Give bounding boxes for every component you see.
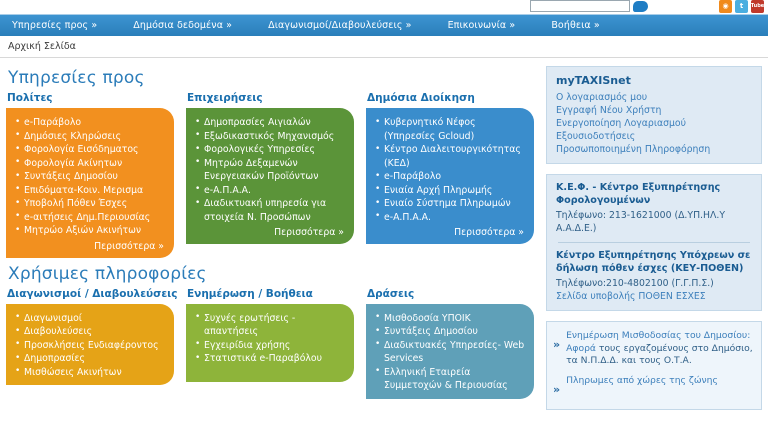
list-item[interactable]: Συντάξεις Δημοσίου	[372, 325, 526, 339]
list-item[interactable]: Επιδόματα-Κοιν. Μερισμα	[12, 184, 166, 198]
list-citizens: e-Παράβολο Δημόσιες Κληρώσεις Φορολογία …	[12, 116, 166, 238]
news-item[interactable]: » Ενημέρωση Μισθοδοσίας του Δημοσίου: Αφ…	[553, 330, 753, 368]
card-tenders: Διαγωνισμοί Διαβουλεύσεις Προσκλήσεις Εν…	[6, 304, 174, 386]
nav-item-voitheia[interactable]: Βοήθεια »	[551, 20, 618, 31]
page-title: Υπηρεσίες προς	[8, 68, 540, 88]
card-actions: Μισθοδοσία ΥΠΟΙΚ Συντάξεις Δημοσίου Διαδ…	[366, 304, 534, 399]
nav-item-epikoinonia[interactable]: Επικοινωνία »	[448, 20, 534, 31]
list-item[interactable]: Εγχειρίδια χρήσης	[192, 339, 346, 353]
list-item[interactable]: Φορολογία Εισόδηματος	[12, 143, 166, 157]
news-item[interactable]: » Πληρωμες από χώρες της ζώνης	[553, 375, 753, 396]
list-item[interactable]: Συντάξεις Δημοσίου	[12, 170, 166, 184]
kef-title: Κ.Ε.Φ. - Κέντρο Εξυπηρέτησης Φορολογουμέ…	[556, 182, 752, 207]
rss-icon[interactable]: ◉	[719, 0, 732, 13]
sidebar-item-personalized-info[interactable]: Προσωποποιημένη Πληροφόρηση	[556, 143, 752, 156]
keypothen-phone: Τηλέφωνο:210-4802100 (Γ.Γ.Π.Σ.)	[556, 277, 752, 290]
card-heading-actions: Δράσεις	[367, 288, 534, 300]
main-content: Υπηρεσίες προς Πολίτες e-Παράβολο Δημόσι…	[0, 66, 540, 432]
breadcrumb-home[interactable]: Αρχική Σελίδα	[8, 41, 76, 52]
list-item[interactable]: Μισθοδοσία ΥΠΟΙΚ	[372, 312, 526, 326]
list-item[interactable]: Ελληνική Εταιρεία Συμμετοχών & Περιουσία…	[372, 366, 526, 393]
list-item[interactable]: Διαγωνισμοί	[12, 312, 166, 326]
double-chevron-right-icon: »	[553, 330, 560, 351]
more-link-public-admin[interactable]: Περισσότερα »	[372, 227, 526, 238]
list-item[interactable]: Διαδικτυακή υπηρεσία για στοιχεία Ν. Προ…	[192, 197, 346, 224]
nav-item-diagonismoi[interactable]: Διαγωνισμοί/Διαβουλεύσεις »	[268, 20, 429, 31]
double-chevron-right-icon: »	[553, 375, 560, 396]
list-item[interactable]: Κέντρο Διαλειτουργικότητας (ΚΕΔ)	[372, 143, 526, 170]
list-businesses: Δημοπρασίες Αιγιαλών Εξωδικαστικός Μηχαν…	[192, 116, 346, 224]
list-item[interactable]: Διαδικτυακές Υπηρεσίες- Web Services	[372, 339, 526, 366]
list-item[interactable]: Κυβερνητικό Νέφος (Υπηρεσίες Gcloud)	[372, 116, 526, 143]
list-item[interactable]: Εξωδικαστικός Μηχανισμός	[192, 130, 346, 144]
sidebar-news-box: » Ενημέρωση Μισθοδοσίας του Δημοσίου: Αφ…	[546, 321, 762, 410]
news-text[interactable]: Ενημέρωση Μισθοδοσίας του Δημοσίου: Αφορ…	[566, 330, 753, 368]
card-information: Συχνές ερωτήσεις - απαντήσεις Εγχειρίδια…	[186, 304, 354, 382]
keypothen-title: Κέντρο Εξυπηρέτησης Υπόχρεων σε δήλωση π…	[556, 250, 752, 275]
useful-cards-row: Διαγωνισμοί / Διαβουλεύσεις Διαγωνισμοί …	[6, 288, 540, 399]
social-links: ◉ t Tube	[719, 0, 764, 13]
nav-item-dimosia-dedomena[interactable]: Δημόσια δεδομένα »	[133, 20, 250, 31]
breadcrumb: Αρχική Σελίδα	[0, 36, 768, 58]
news-link[interactable]: Πληρωμες από χώρες της ζώνης	[566, 375, 718, 386]
mytaxisnet-title: myTAXISnet	[556, 74, 752, 87]
card-heading-businesses: Επιχειρήσεις	[187, 92, 354, 104]
sidebar-item-activate[interactable]: Ενεργοποίηση Λογαριασμού	[556, 117, 752, 130]
list-tenders: Διαγωνισμοί Διαβουλεύσεις Προσκλήσεις Εν…	[12, 312, 166, 380]
sidebar-item-authorizations[interactable]: Εξουσιοδοτήσεις	[556, 130, 752, 143]
list-item[interactable]: Δημοπρασίες	[12, 352, 166, 366]
card-businesses: Δημοπρασίες Αιγιαλών Εξωδικαστικός Μηχαν…	[186, 108, 354, 244]
section-title-useful: Χρήσιμες πληροφορίες	[8, 264, 540, 284]
keypothen-submit-link[interactable]: Σελίδα υποβολής ΠΟΘΕΝ ΕΣΧΕΣ	[556, 290, 752, 303]
search-area	[530, 0, 648, 12]
list-item[interactable]: e-Α.Π.Α.Α.	[192, 184, 346, 198]
service-cards-row: Πολίτες e-Παράβολο Δημόσιες Κληρώσεις Φο…	[6, 92, 540, 258]
card-heading-information: Ενημέρωση / Βοήθεια	[187, 288, 354, 300]
search-icon[interactable]	[633, 1, 648, 12]
list-item[interactable]: Δημόσιες Κληρώσεις	[12, 130, 166, 144]
card-column-public-admin: Δημόσια Διοίκηση Κυβερνητικό Νέφος (Υπηρ…	[366, 92, 534, 258]
list-item[interactable]: Στατιστικά e-Παραβόλου	[192, 352, 346, 366]
card-column-information: Ενημέρωση / Βοήθεια Συχνές ερωτήσεις - α…	[186, 288, 354, 399]
list-information: Συχνές ερωτήσεις - απαντήσεις Εγχειρίδια…	[192, 312, 346, 366]
sidebar-box-kef: Κ.Ε.Φ. - Κέντρο Εξυπηρέτησης Φορολογουμέ…	[546, 174, 762, 311]
list-item[interactable]: Ενιαία Αρχή Πληρωμής	[372, 184, 526, 198]
card-column-tenders: Διαγωνισμοί / Διαβουλεύσεις Διαγωνισμοί …	[6, 288, 174, 399]
sidebar-divider	[558, 242, 750, 243]
list-item[interactable]: e-αιτήσεις Δημ.Περιουσίας	[12, 211, 166, 225]
list-item[interactable]: Φορολογικές Υπηρεσίες	[192, 143, 346, 157]
list-item[interactable]: e-Α.Π.Α.Α.	[372, 211, 526, 225]
sidebar-item-register[interactable]: Εγγραφή Νέου Χρήστη	[556, 104, 752, 117]
card-heading-citizens: Πολίτες	[7, 92, 174, 104]
list-item[interactable]: Ενιαίο Σύστημα Πληρωμών	[372, 197, 526, 211]
list-item[interactable]: Φορολογία Ακίνητων	[12, 157, 166, 171]
card-heading-public-admin: Δημόσια Διοίκηση	[367, 92, 534, 104]
card-column-businesses: Επιχειρήσεις Δημοπρασίες Αιγιαλών Εξωδικ…	[186, 92, 354, 258]
card-public-admin: Κυβερνητικό Νέφος (Υπηρεσίες Gcloud) Κέν…	[366, 108, 534, 244]
section-useful-info: Χρήσιμες πληροφορίες Διαγωνισμοί / Διαβο…	[6, 264, 540, 399]
list-item[interactable]: Δημοπρασίες Αιγιαλών	[192, 116, 346, 130]
list-item[interactable]: e-Παράβολο	[12, 116, 166, 130]
page-body: Υπηρεσίες προς Πολίτες e-Παράβολο Δημόσι…	[0, 58, 768, 432]
news-text[interactable]: Πληρωμες από χώρες της ζώνης	[566, 375, 718, 388]
list-item[interactable]: Συχνές ερωτήσεις - απαντήσεις	[192, 312, 346, 339]
list-item[interactable]: Προσκλήσεις Ενδιαφέροντος	[12, 339, 166, 353]
list-public-admin: Κυβερνητικό Νέφος (Υπηρεσίες Gcloud) Κέν…	[372, 116, 526, 224]
list-item[interactable]: e-Παράβολο	[372, 170, 526, 184]
list-item[interactable]: Μητρώο Δεξαμενών Ενεργειακών Προϊόντων	[192, 157, 346, 184]
list-item[interactable]: Διαβουλεύσεις	[12, 325, 166, 339]
card-heading-tenders: Διαγωνισμοί / Διαβουλεύσεις	[7, 288, 174, 300]
top-utility-bar: ◉ t Tube	[0, 0, 768, 14]
card-column-citizens: Πολίτες e-Παράβολο Δημόσιες Κληρώσεις Φο…	[6, 92, 174, 258]
list-actions: Μισθοδοσία ΥΠΟΙΚ Συντάξεις Δημοσίου Διαδ…	[372, 312, 526, 393]
list-item[interactable]: Υποβολή Πόθεν Έσχες	[12, 197, 166, 211]
sidebar-item-my-account[interactable]: Ο λογαριασμός μου	[556, 91, 752, 104]
main-navigation: Υπηρεσίες προς » Δημόσια δεδομένα » Διαγ…	[0, 14, 768, 36]
section-services: Υπηρεσίες προς Πολίτες e-Παράβολο Δημόσι…	[6, 68, 540, 258]
kef-phone: Τηλέφωνο: 213-1621000 (Δ.ΥΠ.ΗΛ.Υ Α.Α.Δ.Ε…	[556, 209, 752, 235]
more-link-citizens[interactable]: Περισσότερα »	[12, 241, 166, 252]
sidebar-box-mytaxisnet: myTAXISnet Ο λογαριασμός μου Εγγραφή Νέο…	[546, 66, 762, 164]
youtube-icon[interactable]: Tube	[751, 0, 764, 13]
list-item[interactable]: Μητρώο Αξιών Ακινήτων	[12, 224, 166, 238]
list-item[interactable]: Μισθώσεις Ακινήτων	[12, 366, 166, 380]
card-citizens: e-Παράβολο Δημόσιες Κληρώσεις Φορολογία …	[6, 108, 174, 258]
nav-item-ypiresies[interactable]: Υπηρεσίες προς »	[12, 20, 115, 31]
twitter-icon[interactable]: t	[735, 0, 748, 13]
card-column-actions: Δράσεις Μισθοδοσία ΥΠΟΙΚ Συντάξεις Δημοσ…	[366, 288, 534, 399]
sidebar: myTAXISnet Ο λογαριασμός μου Εγγραφή Νέο…	[540, 66, 768, 432]
search-input[interactable]	[530, 0, 630, 12]
more-link-businesses[interactable]: Περισσότερα »	[192, 227, 346, 238]
